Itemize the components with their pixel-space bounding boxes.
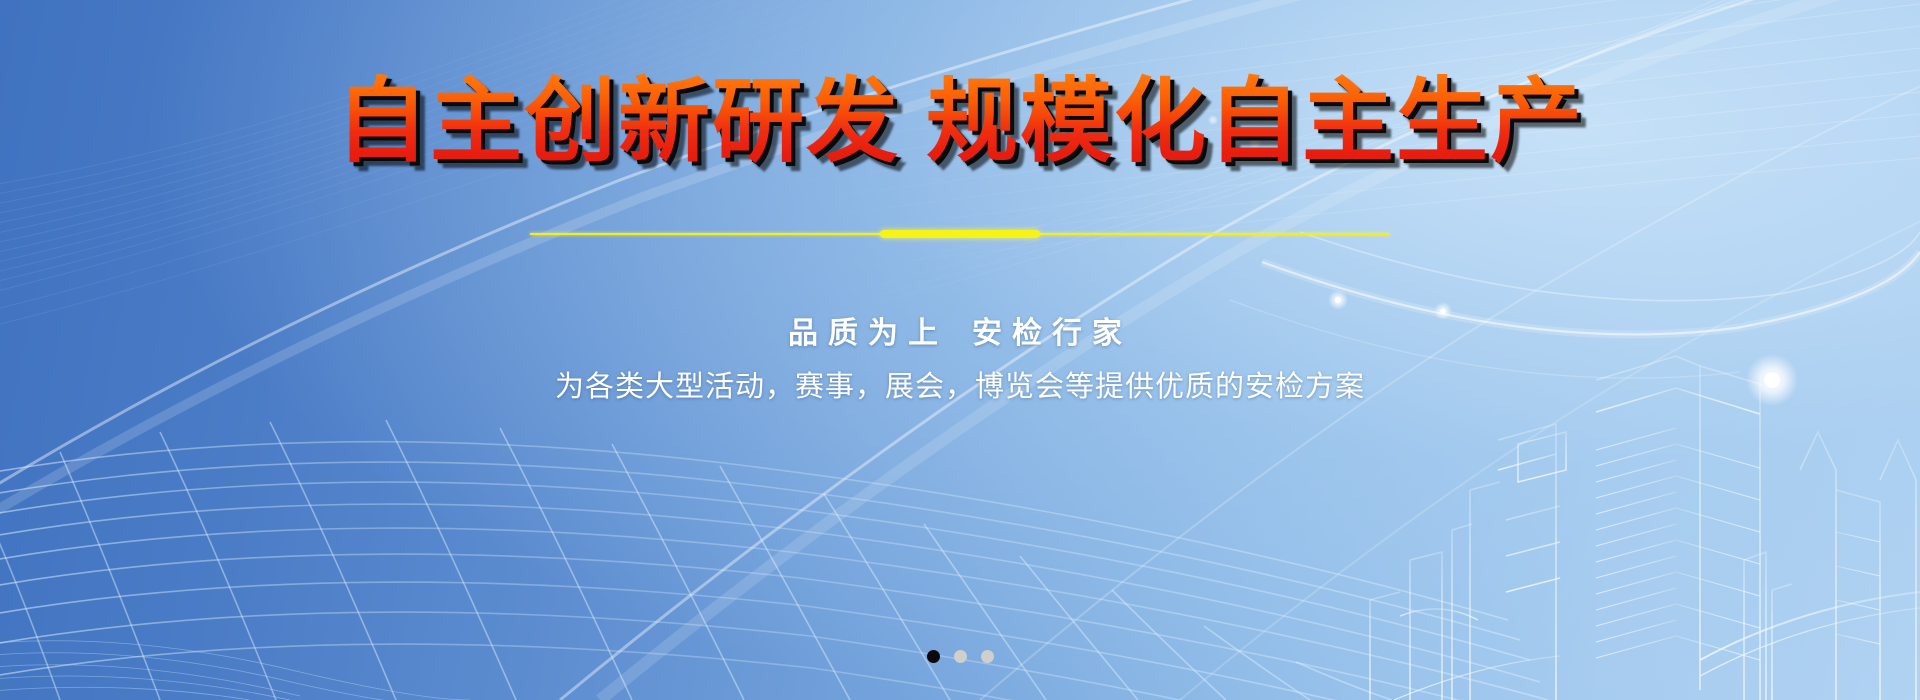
subtitle-part-2: 安检行家 <box>972 316 1132 351</box>
fan-lines-top <box>700 0 1920 318</box>
divider-thick-segment <box>880 230 1040 238</box>
subtitle-line: 品质为上安检行家 <box>0 308 1920 352</box>
sparkle-5 <box>1248 135 1262 149</box>
carousel-dot-1[interactable] <box>927 650 940 663</box>
carousel-dot-3[interactable] <box>981 650 994 663</box>
sparkle-6 <box>1208 115 1218 125</box>
sparkle-2 <box>1335 297 1341 303</box>
carousel-pagination[interactable] <box>0 650 1920 663</box>
divider <box>530 229 1390 239</box>
description-line: 为各类大型活动，赛事，展会，博览会等提供优质的安检方案 <box>0 363 1920 405</box>
hero-banner: 自主创新研发规模化自主生产 品质为上安检行家 为各类大型活动，赛事，展会，博览会… <box>0 0 1920 700</box>
subtitle-part-1: 品质为上 <box>788 316 948 351</box>
fan-lines-left <box>0 0 930 334</box>
carousel-dot-2[interactable] <box>954 650 967 663</box>
